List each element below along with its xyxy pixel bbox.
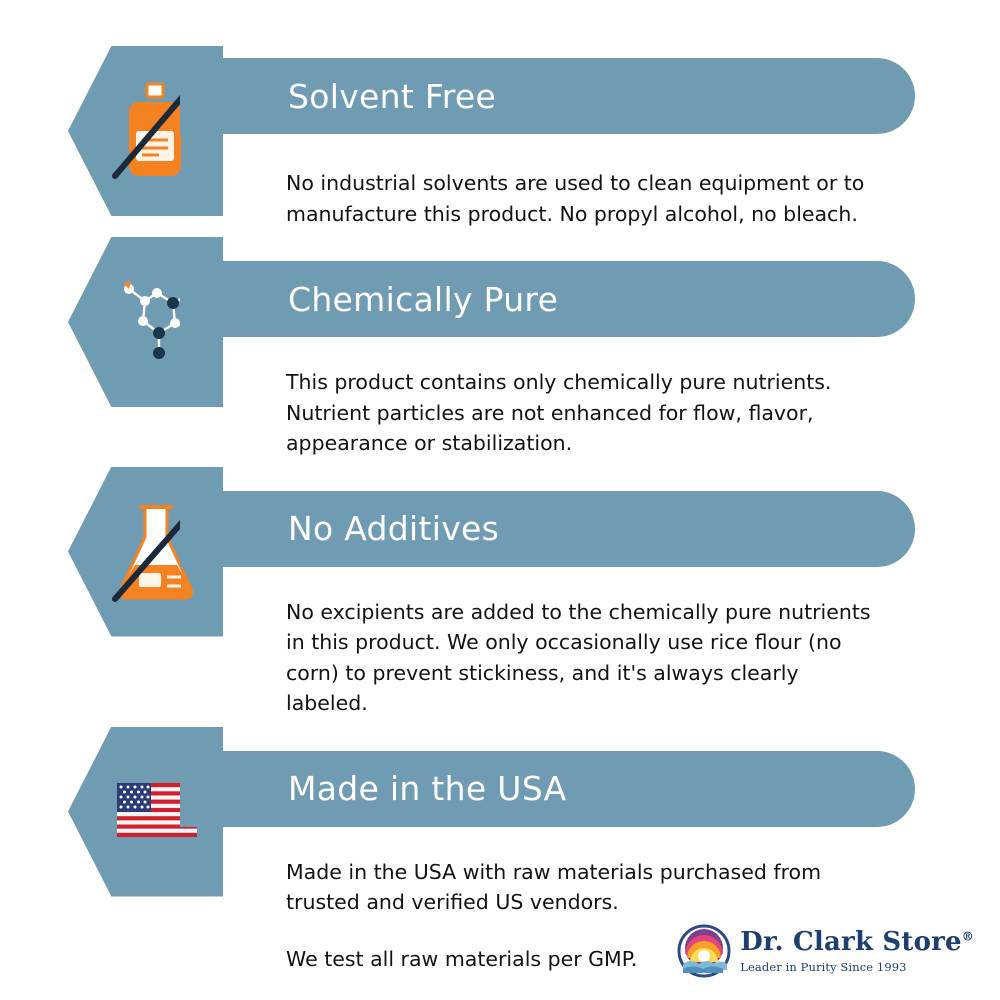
feature-paragraph: This product contains only chemically pu… <box>286 367 880 459</box>
feature-description: This product contains only chemically pu… <box>286 367 880 459</box>
feature-description: No excipients are added to the chemicall… <box>286 597 880 719</box>
banner-row: Chemically Pure <box>0 253 1000 353</box>
brand-logo[interactable]: Dr. Clark Store® Leader in Purity Since … <box>677 924 974 978</box>
logo-name-text: Dr. Clark Store <box>740 927 962 957</box>
sunrise-logo-icon <box>677 924 731 978</box>
logo-text-block: Dr. Clark Store® Leader in Purity Since … <box>740 929 974 974</box>
banner-bar: Made in the USA <box>180 751 915 827</box>
registered-mark: ® <box>962 929 974 943</box>
banner-row: Solvent Free <box>0 46 1000 146</box>
banner-row: No Additives <box>0 481 1000 581</box>
feature-no-additives: No Additives No excipients are added to … <box>0 459 1000 719</box>
feature-title: No Additives <box>288 509 499 548</box>
feature-solvent-free: Solvent Free No industrial solvents are … <box>0 0 1000 229</box>
feature-title: Solvent Free <box>288 77 496 116</box>
banner-bar: Solvent Free <box>180 58 915 134</box>
feature-title: Made in the USA <box>288 769 566 808</box>
feature-paragraph: No industrial solvents are used to clean… <box>286 168 880 229</box>
banner-bar: Chemically Pure <box>180 261 915 337</box>
feature-title: Chemically Pure <box>288 280 558 319</box>
logo-name: Dr. Clark Store® <box>740 929 974 955</box>
feature-chemically-pure: Chemically Pure This product contains on… <box>0 229 1000 459</box>
logo-tagline: Leader in Purity Since 1993 <box>740 960 906 974</box>
feature-paragraph: No excipients are added to the chemicall… <box>286 597 880 719</box>
feature-description: No industrial solvents are used to clean… <box>286 168 880 229</box>
infographic-container: Solvent Free No industrial solvents are … <box>0 0 1000 1000</box>
feature-paragraph: Made in the USA with raw materials purch… <box>286 857 880 918</box>
banner-bar: No Additives <box>180 491 915 567</box>
banner-row: Made in the USA <box>0 739 1000 839</box>
